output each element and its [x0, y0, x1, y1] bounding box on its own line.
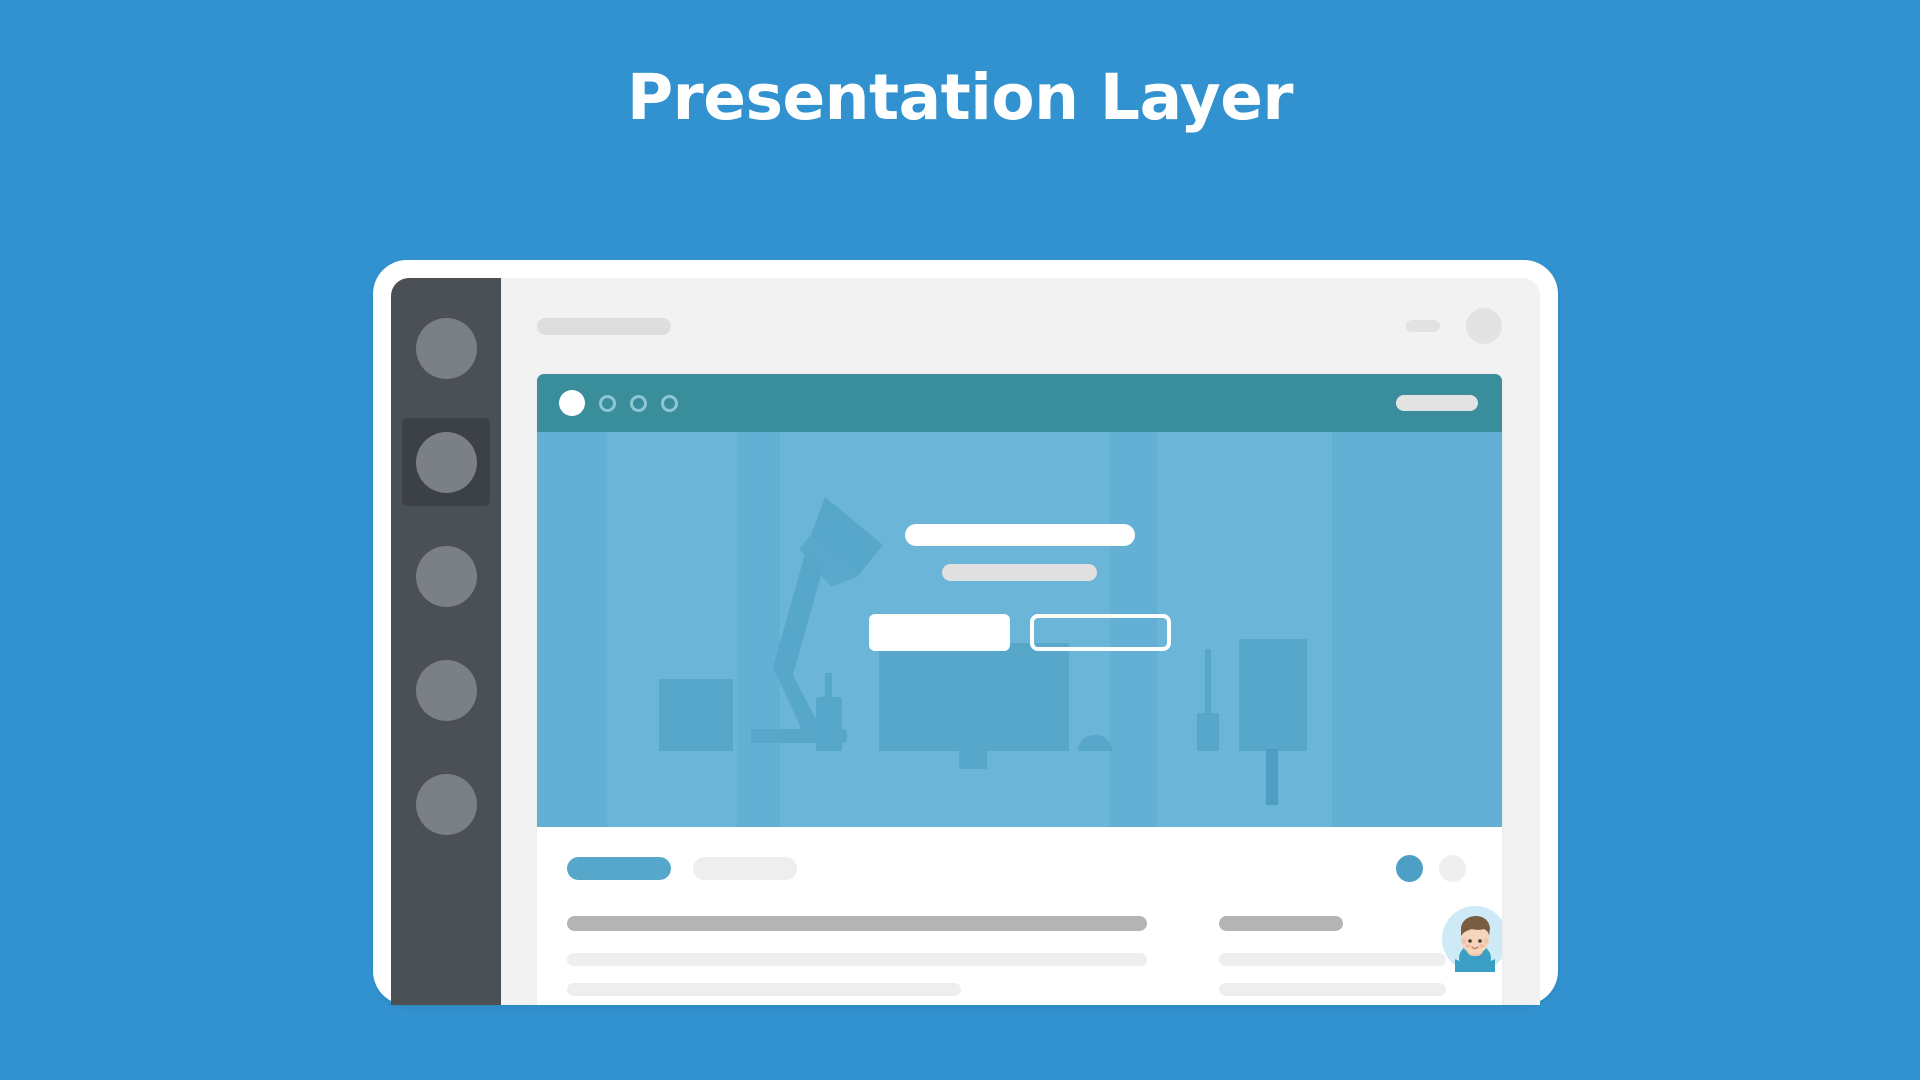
hero-secondary-button[interactable] [1030, 614, 1171, 651]
hero-headline [905, 524, 1135, 546]
antenna-rod-icon [1205, 649, 1211, 715]
pagination-dot-2[interactable] [1439, 855, 1466, 882]
hero-section [537, 432, 1502, 827]
sidebar-icon-3 [416, 546, 477, 607]
content-column-right [1219, 916, 1466, 1005]
sidebar-icon-2 [416, 432, 477, 493]
antenna-base-icon [1197, 713, 1219, 751]
sidebar-icon-4 [416, 660, 477, 721]
circle-filled-icon[interactable] [559, 390, 585, 416]
tab-bar [567, 857, 797, 880]
app-sidebar [391, 278, 501, 1005]
chair-stem-icon [1266, 749, 1278, 805]
hero-primary-button[interactable] [869, 614, 1010, 651]
pagination-dot-1[interactable] [1396, 855, 1423, 882]
sidebar-icon-1 [416, 318, 477, 379]
right-text-line-2 [1219, 983, 1446, 996]
breadcrumb[interactable] [537, 318, 671, 335]
sidebar-item-1[interactable] [402, 304, 490, 392]
hero-subheadline [942, 564, 1097, 581]
circle-outline-icon-1[interactable] [599, 395, 616, 412]
topbar-avatar[interactable] [1466, 308, 1502, 344]
hero-content [785, 524, 1255, 651]
left-text-line-2 [567, 983, 961, 996]
device-screen [391, 278, 1540, 1005]
browser-preview-card [537, 374, 1502, 1005]
circle-outline-icon-3[interactable] [661, 395, 678, 412]
app-body [501, 278, 1540, 1005]
hero-actions [869, 614, 1171, 651]
topbar-actions [1406, 308, 1502, 344]
sidebar-item-4[interactable] [402, 646, 490, 734]
device-frame [373, 260, 1558, 1005]
user-avatar[interactable] [1442, 906, 1502, 972]
sidebar-item-3[interactable] [402, 532, 490, 620]
circle-outline-icon-2[interactable] [630, 395, 647, 412]
tab-1[interactable] [567, 857, 671, 880]
monitor-stand-icon [959, 749, 987, 769]
minimize-icon[interactable] [1406, 320, 1440, 332]
content-columns [567, 916, 1466, 1005]
browser-window-controls [559, 390, 678, 416]
chair-icon [1239, 639, 1307, 751]
sidebar-icon-5 [416, 774, 477, 835]
left-text-line-1 [567, 953, 1147, 966]
app-topbar [501, 278, 1540, 374]
sidebar-item-2[interactable] [402, 418, 490, 506]
page-title: Presentation Layer [0, 62, 1920, 134]
right-text-line-1 [1219, 953, 1446, 966]
page-content [537, 827, 1502, 1005]
right-heading [1219, 916, 1343, 931]
pagination [1396, 855, 1466, 882]
url-bar[interactable] [1396, 395, 1478, 411]
browser-chrome-bar [537, 374, 1502, 432]
sidebar-item-5[interactable] [402, 760, 490, 848]
content-header [567, 855, 1466, 882]
left-heading [567, 916, 1147, 931]
tab-2[interactable] [693, 857, 797, 880]
content-column-left [567, 916, 1147, 1005]
